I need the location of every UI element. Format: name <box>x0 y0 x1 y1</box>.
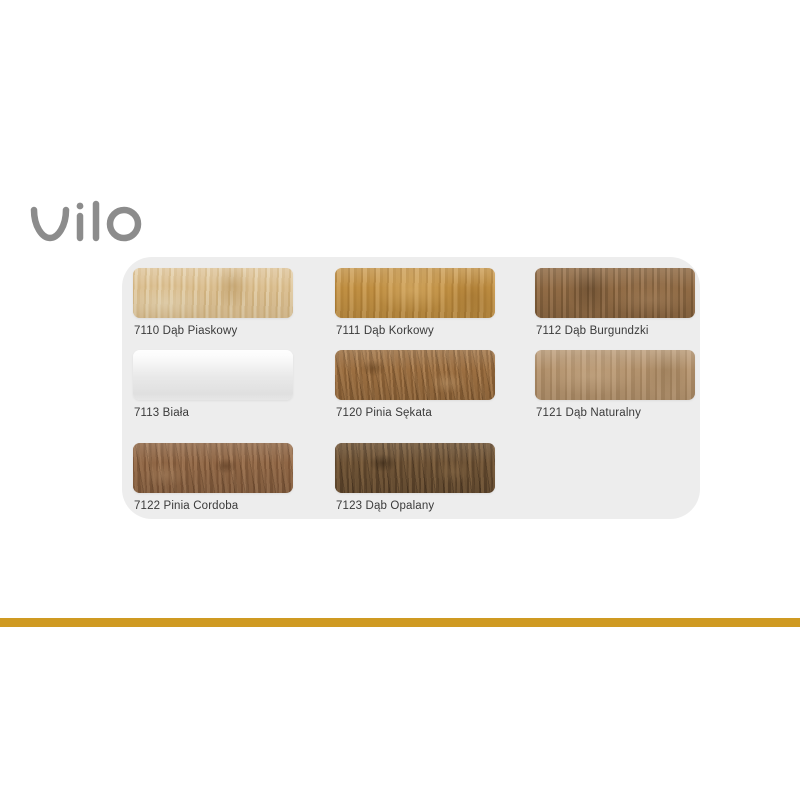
chip-sheen <box>335 350 495 400</box>
swatch-item[interactable]: 7112 Dąb Burgundzki <box>535 268 695 339</box>
vilo-wordmark-icon <box>28 196 168 254</box>
swatch-label: 7112 Dąb Burgundzki <box>535 324 695 339</box>
chip-sheen <box>535 350 695 400</box>
swatch-item[interactable]: 7113 Biała <box>133 350 293 421</box>
chip-sheen <box>133 350 293 400</box>
swatch-chip-7113[interactable] <box>133 350 293 400</box>
swatch-label: 7111 Dąb Korkowy <box>335 324 495 339</box>
swatch-chip-7123[interactable] <box>335 443 495 493</box>
swatch-chip-7111[interactable] <box>335 268 495 318</box>
sample-panel: 7110 Dąb Piaskowy 7111 Dąb Korkowy 711 <box>122 257 700 519</box>
swatch-item[interactable]: 7110 Dąb Piaskowy <box>133 268 293 339</box>
chip-sheen <box>535 268 695 318</box>
swatch-item[interactable]: 7123 Dąb Opalany <box>335 443 495 514</box>
swatch-chip-7112[interactable] <box>535 268 695 318</box>
swatch-label: 7110 Dąb Piaskowy <box>133 324 293 339</box>
vilo-logo <box>28 196 168 254</box>
chip-sheen <box>335 268 495 318</box>
swatch-item[interactable]: 7120 Pinia Sękata <box>335 350 495 421</box>
chip-sheen <box>335 443 495 493</box>
page-root: 7110 Dąb Piaskowy 7111 Dąb Korkowy 711 <box>0 0 800 800</box>
swatch-grid: 7110 Dąb Piaskowy 7111 Dąb Korkowy 711 <box>122 257 700 519</box>
chip-sheen <box>133 268 293 318</box>
accent-bar <box>0 618 800 627</box>
swatch-label: 7121 Dąb Naturalny <box>535 406 695 421</box>
swatch-label: 7113 Biała <box>133 406 293 421</box>
swatch-label: 7123 Dąb Opalany <box>335 499 495 514</box>
swatch-chip-7110[interactable] <box>133 268 293 318</box>
swatch-label: 7122 Pinia Cordoba <box>133 499 293 514</box>
swatch-item[interactable]: 7111 Dąb Korkowy <box>335 268 495 339</box>
swatch-chip-7121[interactable] <box>535 350 695 400</box>
chip-sheen <box>133 443 293 493</box>
swatch-item[interactable]: 7122 Pinia Cordoba <box>133 443 293 514</box>
swatch-item[interactable]: 7121 Dąb Naturalny <box>535 350 695 421</box>
swatch-chip-7120[interactable] <box>335 350 495 400</box>
swatch-label: 7120 Pinia Sękata <box>335 406 495 421</box>
swatch-chip-7122[interactable] <box>133 443 293 493</box>
